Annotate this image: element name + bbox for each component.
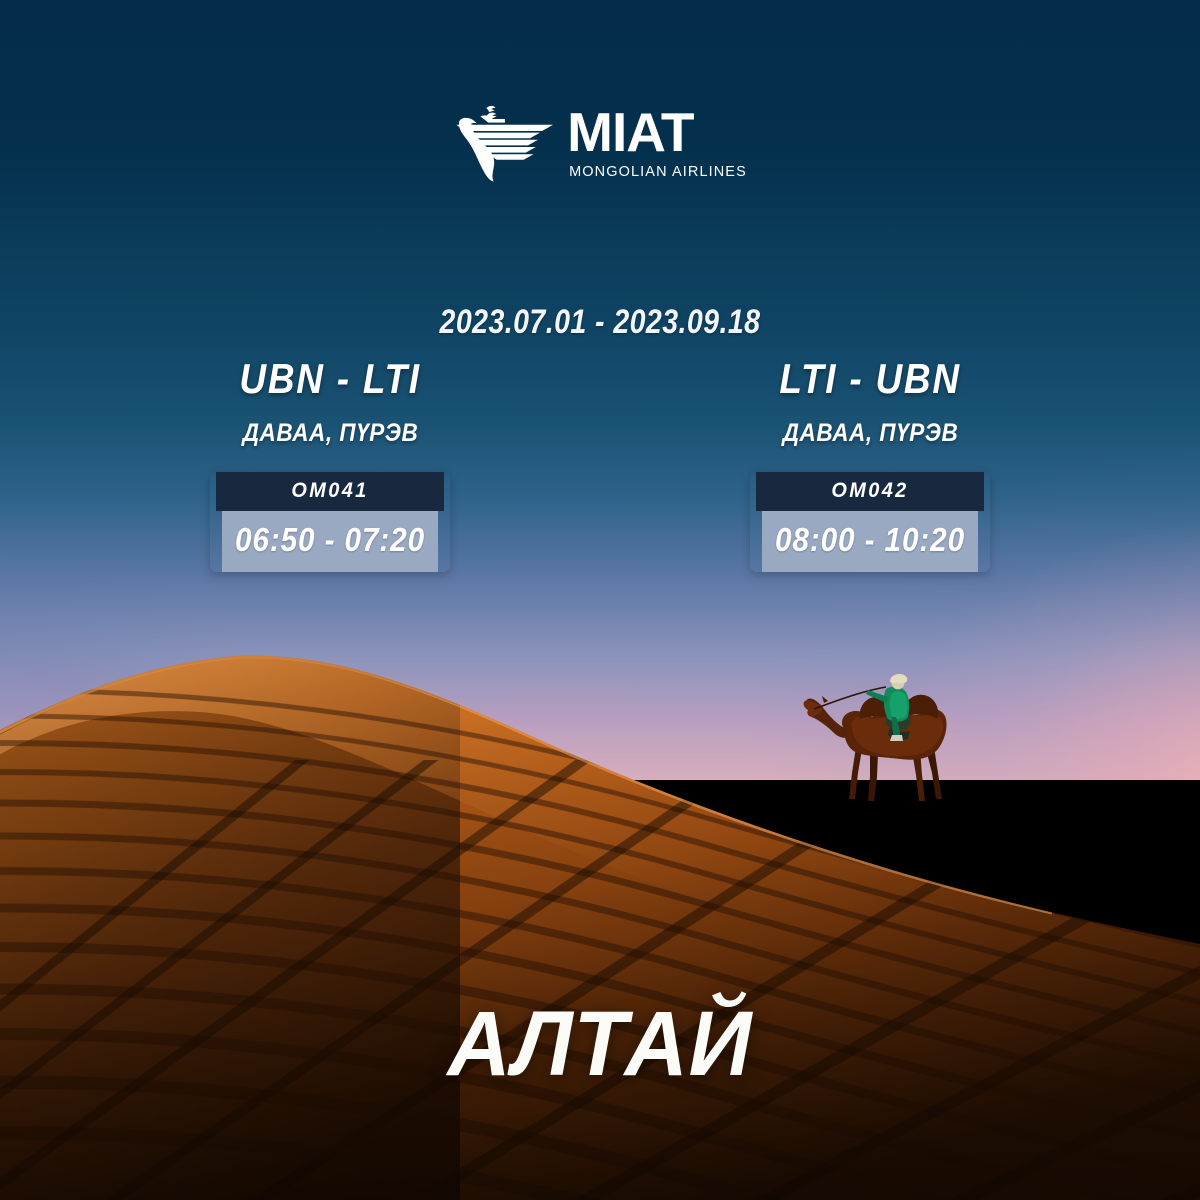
- flight-schedule-poster: MIAT MONGOLIAN AIRLINES 2023.07.01 - 202…: [0, 0, 1200, 1200]
- camel-rider: [800, 665, 985, 810]
- destination-title: АЛТАЙ: [30, 992, 1170, 1097]
- camel-rider-icon: [800, 665, 985, 810]
